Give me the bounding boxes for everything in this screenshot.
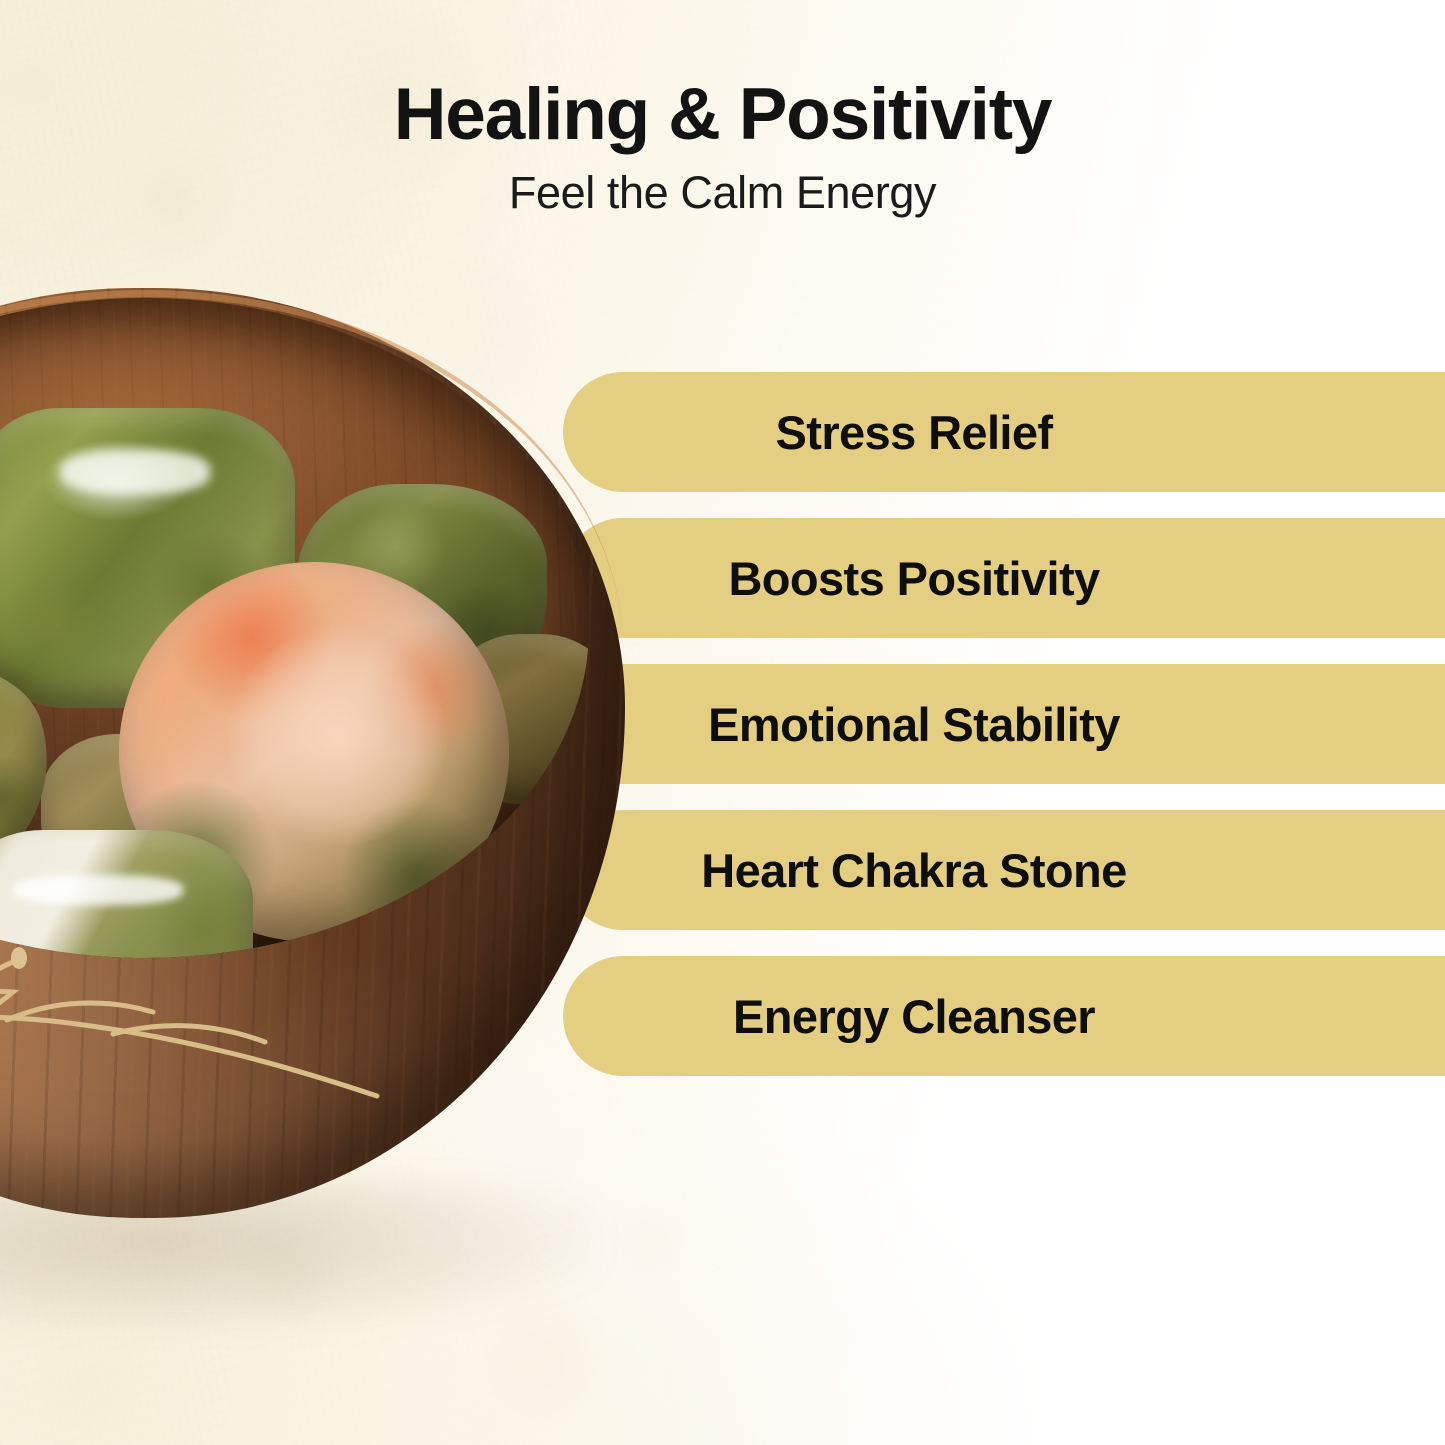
unakite-stone-group: [0, 334, 589, 954]
wooden-bowl-interior: [0, 298, 589, 958]
benefit-label: Energy Cleanser: [733, 989, 1095, 1044]
benefit-label: Emotional Stability: [708, 697, 1120, 752]
page-title: Healing & Positivity: [0, 78, 1445, 152]
benefit-label: Boosts Positivity: [728, 551, 1099, 606]
unakite-stone: [0, 830, 253, 958]
benefit-label: Stress Relief: [776, 405, 1053, 460]
product-photo-bowl-of-unakite-stones: [0, 288, 625, 1278]
header: Healing & Positivity Feel the Calm Energ…: [0, 78, 1445, 218]
page-subtitle: Feel the Calm Energy: [0, 168, 1445, 218]
benefit-pill-heart-chakra-stone[interactable]: Heart Chakra Stone: [563, 810, 1445, 930]
stone-specular-highlight: [13, 875, 183, 905]
product-infographic-canvas: Healing & Positivity Feel the Calm Energ…: [0, 0, 1445, 1445]
benefit-pill-stress-relief[interactable]: Stress Relief: [563, 372, 1445, 492]
stone-specular-highlight: [60, 450, 210, 494]
benefit-pill-boosts-positivity[interactable]: Boosts Positivity: [563, 518, 1445, 638]
benefit-label: Heart Chakra Stone: [701, 843, 1126, 898]
benefit-pill-energy-cleanser[interactable]: Energy Cleanser: [563, 956, 1445, 1076]
benefit-pill-emotional-stability[interactable]: Emotional Stability: [563, 664, 1445, 784]
